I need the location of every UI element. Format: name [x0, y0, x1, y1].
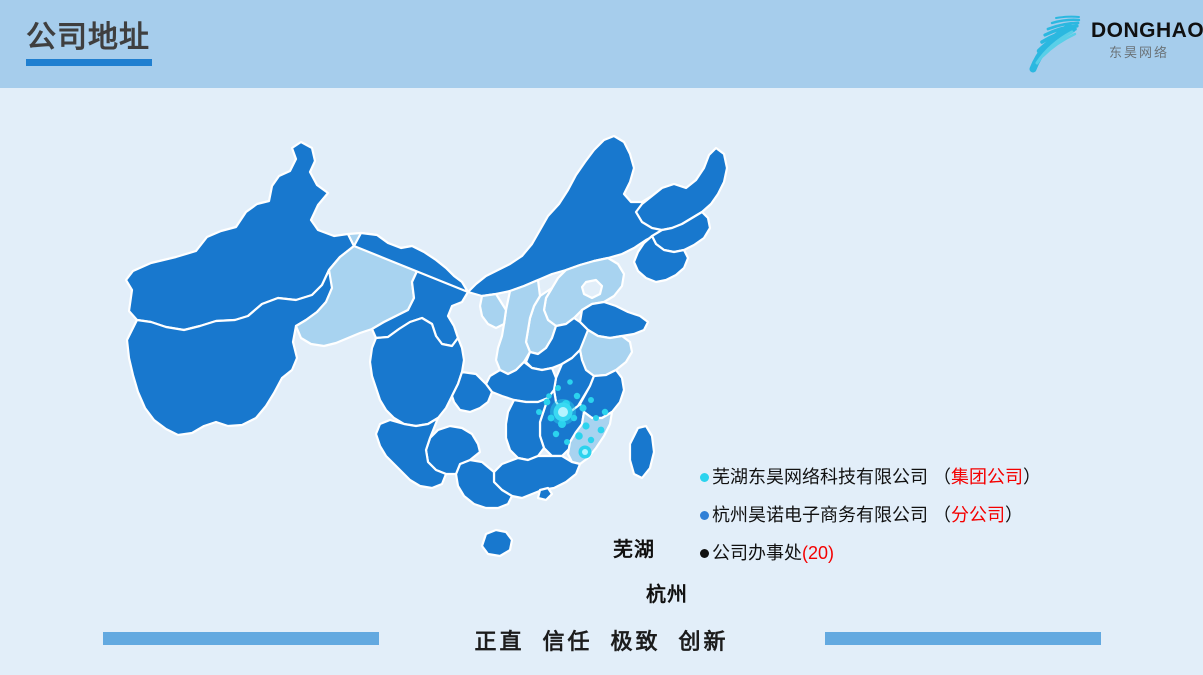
- title-block: 公司地址: [26, 20, 152, 66]
- legend-annotation: （分公司）: [933, 505, 1023, 525]
- legend-paren-close: ）: [1005, 505, 1023, 525]
- company-logo: DONGHAO 东昊网络: [1013, 9, 1189, 75]
- legend-label: 公司办事处: [712, 543, 802, 563]
- legend-bullet-icon: [700, 511, 709, 520]
- legend-paren-close: ）: [1023, 467, 1041, 487]
- marker-hangzhou: [579, 446, 592, 459]
- slogan-word-2: 信任: [542, 629, 592, 654]
- legend-item-offices: 公司办事处(20): [700, 538, 1120, 568]
- china-map: 芜湖 杭州: [96, 130, 736, 600]
- province-beijing: [582, 280, 602, 298]
- province-jiangsu: [580, 330, 632, 376]
- legend-label: 芜湖东昊网络科技有限公司: [712, 467, 928, 487]
- slide-header: 公司地址: [0, 0, 1203, 88]
- slogan-word-3: 极致: [611, 629, 661, 654]
- logo-subtitle: 东昊网络: [1091, 44, 1187, 61]
- province-ningxia: [480, 294, 506, 328]
- logo-text-block: DONGHAO 东昊网络: [1091, 19, 1187, 61]
- legend-item-group-company: 芜湖东昊网络科技有限公司 （集团公司）: [700, 462, 1120, 492]
- province-hongkong: [538, 488, 552, 500]
- legend-item-branch-company: 杭州昊诺电子商务有限公司 （分公司）: [700, 500, 1120, 530]
- province-heilongjiang: [636, 148, 727, 230]
- logo-name: DONGHAO: [1091, 19, 1187, 43]
- legend-bullet-icon: [700, 473, 709, 482]
- province-hainan: [482, 530, 512, 556]
- company-legend: 芜湖东昊网络科技有限公司 （集团公司） 杭州昊诺电子商务有限公司 （分公司） 公…: [700, 462, 1120, 576]
- legend-paren-open: （: [933, 467, 951, 487]
- legend-highlight: 分公司: [951, 505, 1005, 525]
- slogan-word-1: 正直: [474, 629, 524, 654]
- map-label-wuhu: 芜湖: [613, 533, 655, 562]
- wing-logo-icon: [1025, 11, 1093, 73]
- map-label-hangzhou: 杭州: [646, 578, 688, 607]
- footer-slogan: 正直信任极致创新: [0, 624, 1203, 656]
- slogan-word-4: 创新: [679, 629, 729, 654]
- title-underline: [26, 59, 152, 66]
- page-title: 公司地址: [26, 20, 152, 56]
- legend-annotation: （集团公司）: [933, 467, 1041, 487]
- legend-paren-open: （: [933, 505, 951, 525]
- legend-label: 杭州昊诺电子商务有限公司: [712, 505, 928, 525]
- province-taiwan: [630, 426, 654, 478]
- legend-highlight: 集团公司: [951, 467, 1023, 487]
- china-map-svg: [96, 130, 736, 600]
- marker-wuhu: [550, 399, 576, 425]
- legend-highlight: (20): [802, 543, 834, 563]
- legend-bullet-icon: [700, 549, 709, 558]
- slide-company-address: 公司地址: [0, 0, 1203, 675]
